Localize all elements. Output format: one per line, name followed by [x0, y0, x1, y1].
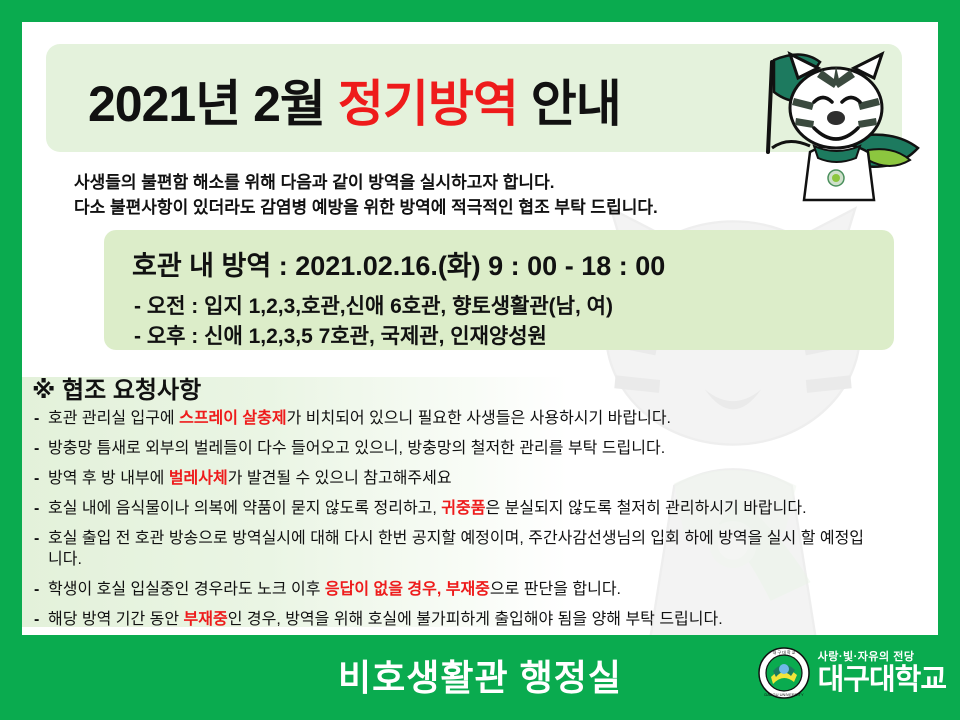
list-item-pre: 방역 후 방 내부에	[48, 470, 169, 487]
list-item-pre: 방충망 틈새로 외부의 벌레들이 다수 들어오고 있으니, 방충망의 철저한 관…	[48, 440, 665, 457]
list-item-highlight: 귀중품	[441, 500, 485, 517]
list-item-highlight: 부재중	[184, 611, 228, 628]
poster-frame: 2021년 2월 정기방역 안내	[0, 0, 960, 720]
list-item-post: 가 비치되어 있으니 필요한 사생들은 사용하시기 바랍니다.	[287, 410, 671, 427]
tiger-mascot-icon	[740, 42, 930, 202]
list-item-highlight: 스프레이 살충제	[179, 410, 287, 427]
intro-line-1: 사생들의 불편함 해소를 위해 다음과 같이 방역을 실시하고자 합니다.	[74, 170, 794, 195]
title-part-2: 안내	[518, 76, 621, 132]
list-item-pre: 호실 출입 전 호관 방송으로 방역실시에 대해 다시 한번 공지할 예정이며,…	[48, 530, 864, 568]
title-part-1: 2021년 2월	[88, 76, 338, 132]
title-highlight: 정기방역	[338, 76, 518, 132]
schedule-afternoon: - 오후 : 신애 1,2,3,5 7호관, 국제관, 인재양성원	[134, 320, 547, 350]
list-item-post: 은 분실되지 않도록 철저히 관리하시기 바랍니다.	[485, 500, 806, 517]
schedule-box: 호관 내 방역 : 2021.02.16.(화) 9 : 00 - 18 : 0…	[104, 230, 894, 350]
schedule-heading: 호관 내 방역 : 2021.02.16.(화) 9 : 00 - 18 : 0…	[132, 244, 665, 283]
list-item: 해당 방역 기간 동안 부재중인 경우, 방역을 위해 호실에 불가피하게 출입…	[34, 609, 914, 630]
list-item: 호실 출입 전 호관 방송으로 방역실시에 대해 다시 한번 공지할 예정이며,…	[34, 528, 868, 570]
list-item-post: 인 경우, 방역을 위해 호실에 불가피하게 출입해야 됨을 양해 부탁 드립니…	[228, 611, 723, 628]
list-item: 방충망 틈새로 외부의 벌레들이 다수 들어오고 있으니, 방충망의 철저한 관…	[34, 438, 914, 459]
university-seal-icon: 대 구 대 학 교 DAEGU UNIVERSITY	[758, 647, 810, 699]
logo-tagline: 사랑·빛·자유의 전당	[818, 652, 946, 663]
svg-text:대 구 대 학 교: 대 구 대 학 교	[772, 649, 795, 655]
footer-bar: 비호생활관 행정실 대 구 대 학 교 DAEGU UNIVERSITY 사랑·…	[0, 635, 960, 720]
intro-paragraph: 사생들의 불편함 해소를 위해 다음과 같이 방역을 실시하고자 합니다. 다소…	[74, 170, 794, 220]
university-logo: 대 구 대 학 교 DAEGU UNIVERSITY 사랑·빛·자유의 전당 대…	[758, 647, 946, 699]
requests-heading: ※ 협조 요청사항	[32, 370, 201, 405]
intro-line-2: 다소 불편사항이 있더라도 감염병 예방을 위한 방역에 적극적인 협조 부탁 …	[74, 195, 794, 220]
schedule-morning: - 오전 : 입지 1,2,3,호관,신애 6호관, 향토생활관(남, 여)	[134, 290, 613, 320]
list-item-post: 가 발견될 수 있으니 참고해주세요	[228, 470, 452, 487]
list-item-highlight: 벌레사체	[169, 470, 228, 487]
logo-university-name: 대구대학교	[818, 666, 946, 695]
list-item-post: 으로 판단을 합니다.	[490, 581, 621, 598]
list-item: 호관 관리실 입구에 스프레이 살충제가 비치되어 있으니 필요한 사생들은 사…	[34, 408, 914, 429]
page-title: 2021년 2월 정기방역 안내	[88, 64, 621, 136]
list-item-pre: 호실 내에 음식물이나 의복에 약품이 묻지 않도록 정리하고,	[48, 500, 441, 517]
list-item-highlight: 응답이 없을 경우, 부재중	[325, 581, 490, 598]
poster-page: 2021년 2월 정기방역 안내	[22, 22, 938, 635]
list-item: 학생이 호실 입실중인 경우라도 노크 이후 응답이 없을 경우, 부재중으로 …	[34, 579, 914, 600]
requests-list: 호관 관리실 입구에 스프레이 살충제가 비치되어 있으니 필요한 사생들은 사…	[34, 408, 914, 635]
svg-text:DAEGU UNIVERSITY: DAEGU UNIVERSITY	[764, 692, 804, 697]
list-item-pre: 해당 방역 기간 동안	[48, 611, 184, 628]
list-item-pre: 학생이 호실 입실중인 경우라도 노크 이후	[48, 581, 325, 598]
logo-text-block: 사랑·빛·자유의 전당 대구대학교	[818, 652, 946, 695]
list-item: 방역 후 방 내부에 벌레사체가 발견될 수 있으니 참고해주세요	[34, 468, 914, 489]
list-item-pre: 호관 관리실 입구에	[48, 410, 179, 427]
list-item: 호실 내에 음식물이나 의복에 약품이 묻지 않도록 정리하고, 귀중품은 분실…	[34, 498, 914, 519]
